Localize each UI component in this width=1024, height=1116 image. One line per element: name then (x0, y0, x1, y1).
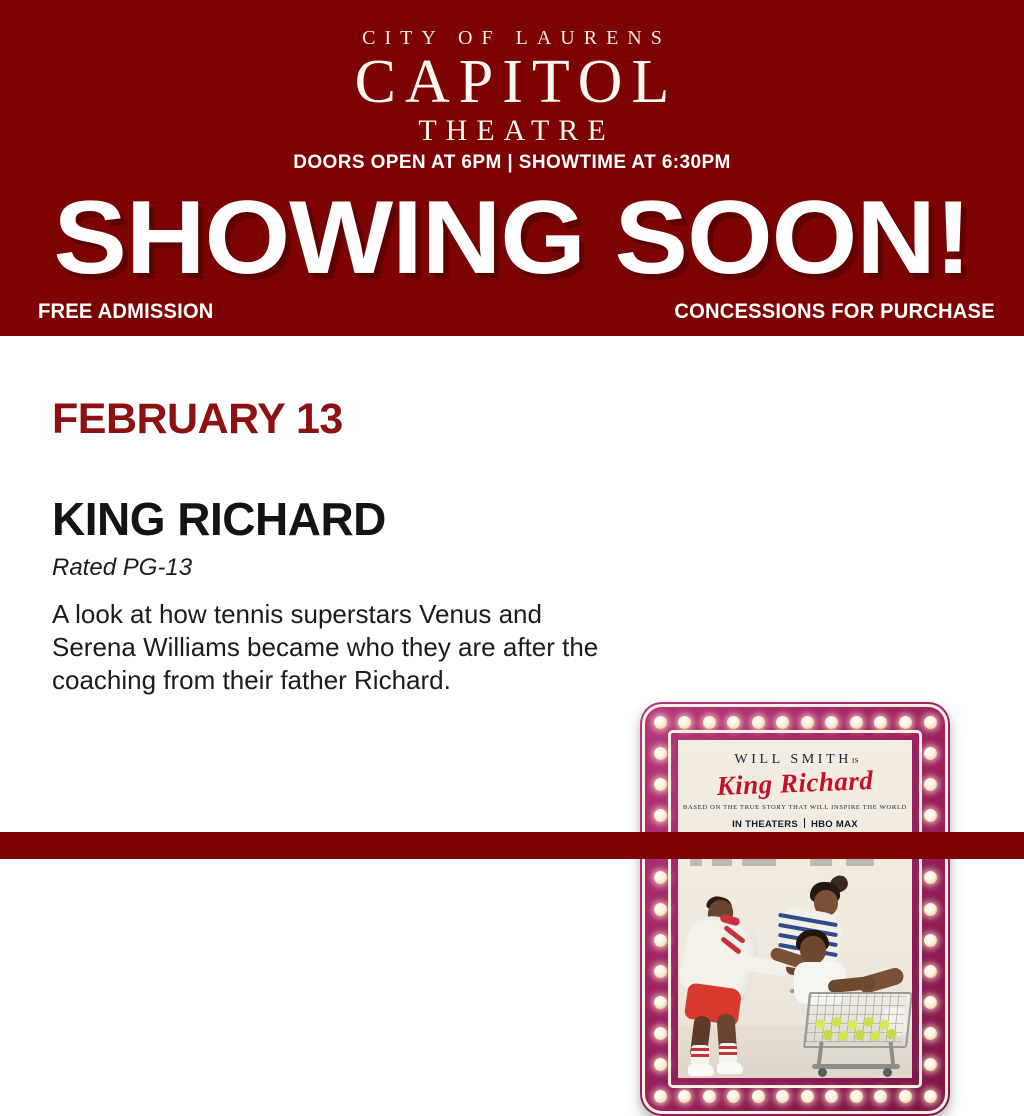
showtimes-line: DOORS OPEN AT 6PM | SHOWTIME AT 6:30PM (0, 152, 1024, 174)
marquee-bulb-icon (924, 996, 937, 1009)
marquee-bulb-icon (654, 903, 667, 916)
marquee-bulb-icon (654, 1027, 667, 1040)
marquee-bulb-icon (899, 1090, 912, 1103)
movie-synopsis: A look at how tennis superstars Venus an… (52, 598, 617, 697)
poster-figure-richard-sock-stripe (719, 1052, 737, 1055)
marquee-bulb-icon (924, 1058, 937, 1071)
poster-release-info: IN THEATERS HBO MAX (678, 814, 912, 832)
poster-release-divider (804, 818, 805, 828)
poster-star-name: WILL SMITH (734, 752, 852, 767)
marquee-bulb-icon (899, 716, 912, 729)
poster-cart-wheel (883, 1068, 892, 1077)
marquee-bulb-icon (654, 747, 667, 760)
marquee-bulb-icon (924, 778, 937, 791)
marquee-bulb-icon (752, 716, 765, 729)
show-date: FEBRUARY 13 (52, 396, 622, 442)
footer-bar (0, 832, 1024, 859)
marquee-bulb-icon (924, 934, 937, 947)
marquee-bulb-icon (924, 871, 937, 884)
movie-rating: Rated PG-13 (52, 554, 622, 582)
marquee-bulb-icon (924, 1027, 937, 1040)
marquee-bulb-icon (924, 716, 937, 729)
marquee-bulb-icon (924, 903, 937, 916)
movie-title: KING RICHARD (52, 494, 622, 544)
brand-theater-word: THEATRE (0, 114, 1024, 148)
marquee-bulb-icon (924, 747, 937, 760)
marquee-bulb-icon (654, 1058, 667, 1071)
marquee-bulb-icon (924, 809, 937, 822)
brand-theater-name: CAPITOL (0, 46, 1024, 118)
poster-figure-richard-sock-stripe (691, 1054, 709, 1057)
marquee-bulb-icon (874, 716, 887, 729)
movie-poster-image: WILL SMITHIS King Richard BASED ON THE T… (678, 740, 912, 1078)
showing-soon-headline: SHOWING SOON! (0, 186, 1024, 290)
poster-studio-logos (690, 858, 900, 869)
marquee-bulb-icon (703, 716, 716, 729)
marquee-bulb-icon (850, 716, 863, 729)
poster-figure-richard-sock-stripe (719, 1046, 737, 1049)
marquee-bulb-icon (924, 1090, 937, 1103)
poster-figure-richard-shoe (688, 1064, 714, 1076)
poster-figure-richard-shoe (717, 1062, 743, 1074)
marquee-bulb-icon (703, 1090, 716, 1103)
marquee-bulb-icon (654, 716, 667, 729)
poster-figure-richard-sock-stripe (691, 1048, 709, 1051)
marquee-bulb-icon (654, 934, 667, 947)
marquee-bulb-icon (801, 716, 814, 729)
marquee-poster-frame: WILL SMITHIS King Richard BASED ON THE T… (640, 702, 950, 1116)
poster-tagline: BASED ON THE TRUE STORY THAT WILL INSPIR… (678, 804, 912, 811)
marquee-bulb-icon (801, 1090, 814, 1103)
marquee-bulb-icon (776, 716, 789, 729)
marquee-bulb-icon (654, 778, 667, 791)
poster-release-theaters: IN THEATERS (732, 819, 798, 830)
marquee-bulb-icon (727, 1090, 740, 1103)
marquee-bulb-icon (654, 996, 667, 1009)
poster-release-streaming: HBO MAX (811, 819, 858, 830)
poster-figure-serena-head (800, 936, 826, 964)
listing-body: FEBRUARY 13 KING RICHARD Rated PG-13 A l… (0, 336, 1024, 832)
movie-info-column: FEBRUARY 13 KING RICHARD Rated PG-13 A l… (52, 396, 622, 697)
marquee-bulb-icon (654, 965, 667, 978)
poster-release-row: IN THEATERS HBO MAX (732, 818, 858, 830)
marquee-bulb-icon (727, 716, 740, 729)
poster-cart-wheel (818, 1068, 827, 1077)
marquee-bulb-icon (678, 1090, 691, 1103)
marquee-bulb-icon (924, 965, 937, 978)
marquee-bulb-icon (678, 716, 691, 729)
marquee-bulb-icon (825, 1090, 838, 1103)
free-admission-note: FREE ADMISSION (38, 300, 214, 324)
theater-header-banner: CITY OF LAURENS CAPITOL THEATRE DOORS OP… (0, 0, 1024, 336)
poster-tennis-balls (809, 1016, 904, 1042)
concessions-note: CONCESSIONS FOR PURCHASE (675, 300, 995, 324)
poster-star-suffix: IS (852, 757, 859, 765)
marquee-bulb-icon (776, 1090, 789, 1103)
marquee-bulb-icon (850, 1090, 863, 1103)
marquee-bulb-icon (825, 716, 838, 729)
marquee-bulb-icon (874, 1090, 887, 1103)
marquee-bulb-icon (654, 1090, 667, 1103)
marquee-bulb-icon (752, 1090, 765, 1103)
poster-film-title: King Richard (678, 764, 912, 804)
marquee-bulb-icon (654, 809, 667, 822)
marquee-bulb-icon (654, 871, 667, 884)
